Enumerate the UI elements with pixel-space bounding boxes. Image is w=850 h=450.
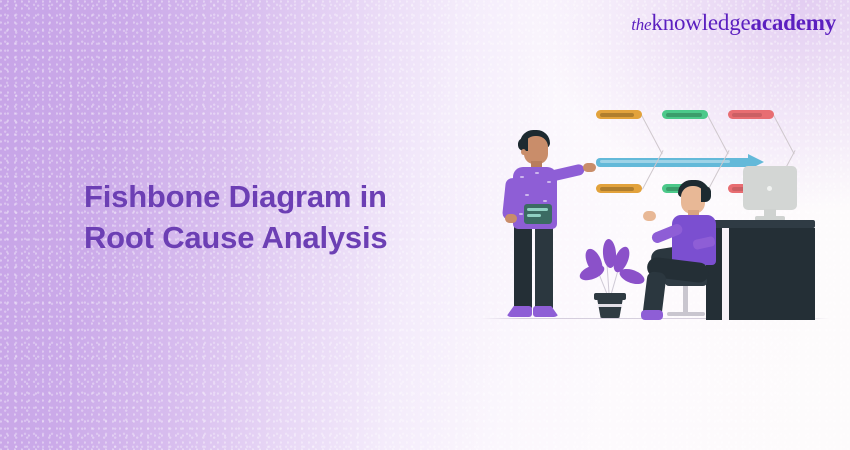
presenter-right-arm (549, 163, 586, 182)
chair-post (683, 284, 688, 314)
sweater-pattern-dot (543, 200, 547, 202)
promo-banner: theknowledgeacademy Fishbone Diagram in … (0, 0, 850, 450)
plant-pot (597, 298, 623, 318)
seated-worker-figure (645, 180, 765, 320)
page-title-line-2: Root Cause Analysis (84, 217, 387, 258)
fishbone-cause-top-3 (728, 110, 774, 119)
fishbone-bone-top-1 (641, 115, 663, 154)
worker-raised-hand (643, 211, 656, 221)
sweater-pattern-dot (519, 213, 523, 215)
page-title-line-1: Fishbone Diagram in (84, 176, 387, 217)
sweater-pattern-dot (535, 172, 539, 174)
chair-base (667, 312, 705, 316)
fishbone-cause-top-2 (662, 110, 708, 119)
fishbone-cause-top-1 (596, 110, 642, 119)
sweater-pattern-dot (525, 194, 529, 196)
worker-lower-shoe (641, 310, 663, 320)
clipboard-line (527, 208, 548, 211)
presenter-ear (521, 149, 526, 155)
sweater-pattern-dot (520, 176, 524, 178)
clipboard-line (527, 214, 541, 217)
fishbone-spine-highlight (600, 160, 730, 163)
fishbone-cause-bottom-1 (596, 184, 642, 193)
fishbone-bone-top-3 (773, 115, 795, 154)
monitor-logo-dot (767, 186, 772, 191)
cause-label-placeholder (600, 113, 634, 117)
worker-hair-side (701, 186, 711, 202)
presenter-left-hand (505, 214, 517, 223)
presenter-right-leg (535, 224, 553, 310)
presenter-left-leg (514, 224, 532, 310)
sweater-pattern-dot (547, 181, 551, 183)
logo-word-the: the (631, 15, 651, 34)
logo-word-academy: academy (751, 10, 836, 35)
presenter-left-shoe (506, 306, 532, 317)
plant-leaf (618, 266, 647, 287)
cause-label-placeholder (732, 113, 762, 117)
presenter-right-shoe (533, 306, 559, 317)
page-title: Fishbone Diagram in Root Cause Analysis (84, 176, 387, 258)
cause-label-placeholder (666, 113, 702, 117)
fishbone-bone-top-2 (707, 115, 729, 154)
cause-label-placeholder (600, 187, 634, 191)
plant-pot-rim (594, 293, 626, 300)
potted-plant (575, 238, 645, 320)
brand-logo[interactable]: theknowledgeacademy (631, 11, 836, 34)
hero-illustration (470, 70, 840, 360)
plant-pot-band (597, 304, 623, 307)
logo-word-knowledge: knowledge (651, 10, 750, 35)
presenter-pointing-hand (583, 163, 596, 172)
